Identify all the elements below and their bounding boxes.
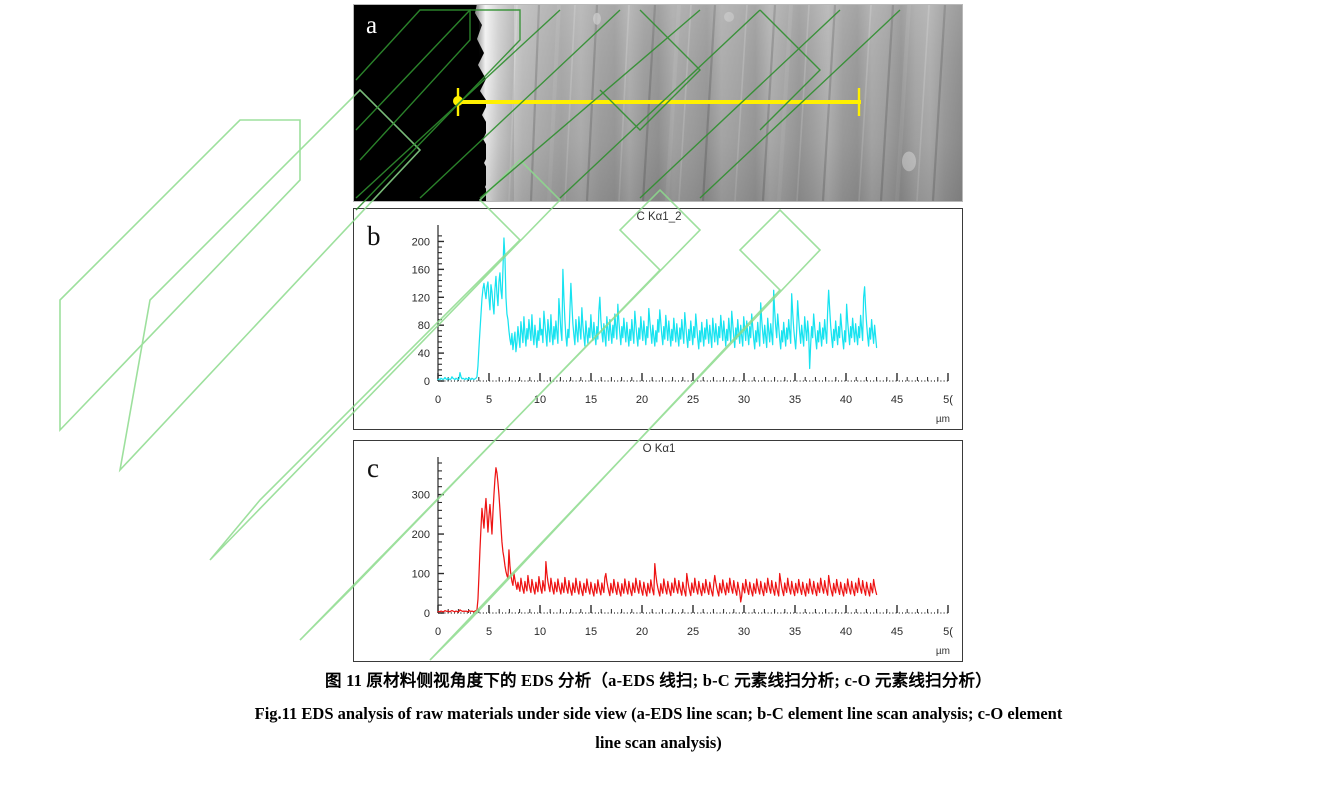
svg-text:30: 30 — [738, 626, 750, 638]
svg-text:20: 20 — [636, 394, 648, 406]
svg-text:40: 40 — [418, 348, 430, 360]
svg-text:45: 45 — [891, 394, 903, 406]
caption-english-line-2: line scan analysis) — [0, 729, 1317, 758]
figure-stack: a b C Kα1_2 0408012016020005101520253035… — [353, 4, 963, 658]
svg-text:15: 15 — [585, 626, 597, 638]
svg-text:80: 80 — [418, 320, 430, 332]
caption-english: Fig.11 EDS analysis of raw materials und… — [0, 700, 1317, 758]
svg-text:35: 35 — [789, 394, 801, 406]
svg-text:0: 0 — [424, 376, 430, 388]
svg-text:120: 120 — [412, 292, 430, 304]
svg-text:200: 200 — [412, 236, 430, 248]
svg-text:5: 5 — [486, 394, 492, 406]
panel-a-sem-image: a — [353, 4, 963, 202]
caption-english-line-1: Fig.11 EDS analysis of raw materials und… — [0, 700, 1317, 729]
svg-text:160: 160 — [412, 264, 430, 276]
eds-scan-line-marker — [354, 5, 963, 202]
panel-c-chart-canvas: 01002003000510152025303540455( — [354, 441, 964, 663]
svg-text:25: 25 — [687, 626, 699, 638]
svg-text:20: 20 — [636, 626, 648, 638]
svg-text:200: 200 — [412, 529, 430, 541]
svg-text:35: 35 — [789, 626, 801, 638]
svg-text:100: 100 — [412, 569, 430, 581]
svg-text:300: 300 — [412, 490, 430, 502]
svg-text:40: 40 — [840, 626, 852, 638]
svg-text:0: 0 — [424, 608, 430, 620]
svg-text:10: 10 — [534, 394, 546, 406]
panel-b-unit-label: µm — [936, 414, 950, 425]
svg-text:10: 10 — [534, 626, 546, 638]
svg-text:0: 0 — [435, 394, 441, 406]
panel-b-chart-canvas: 040801201602000510152025303540455( — [354, 209, 964, 431]
svg-text:5: 5 — [486, 626, 492, 638]
panel-b-carbon-plot: b C Kα1_2 040801201602000510152025303540… — [353, 208, 963, 430]
panel-c-oxygen-plot: c O Kα1 01002003000510152025303540455( µ… — [353, 440, 963, 662]
svg-text:15: 15 — [585, 394, 597, 406]
svg-text:30: 30 — [738, 394, 750, 406]
svg-text:40: 40 — [840, 394, 852, 406]
caption-chinese: 图 11 原材料侧视角度下的 EDS 分析（a-EDS 线扫; b-C 元素线扫… — [0, 667, 1317, 691]
svg-text:5(: 5( — [943, 626, 953, 638]
panel-c-unit-label: µm — [936, 646, 950, 657]
svg-text:0: 0 — [435, 626, 441, 638]
svg-text:45: 45 — [891, 626, 903, 638]
panel-a-letter: a — [366, 13, 377, 38]
svg-text:5(: 5( — [943, 394, 953, 406]
svg-text:25: 25 — [687, 394, 699, 406]
